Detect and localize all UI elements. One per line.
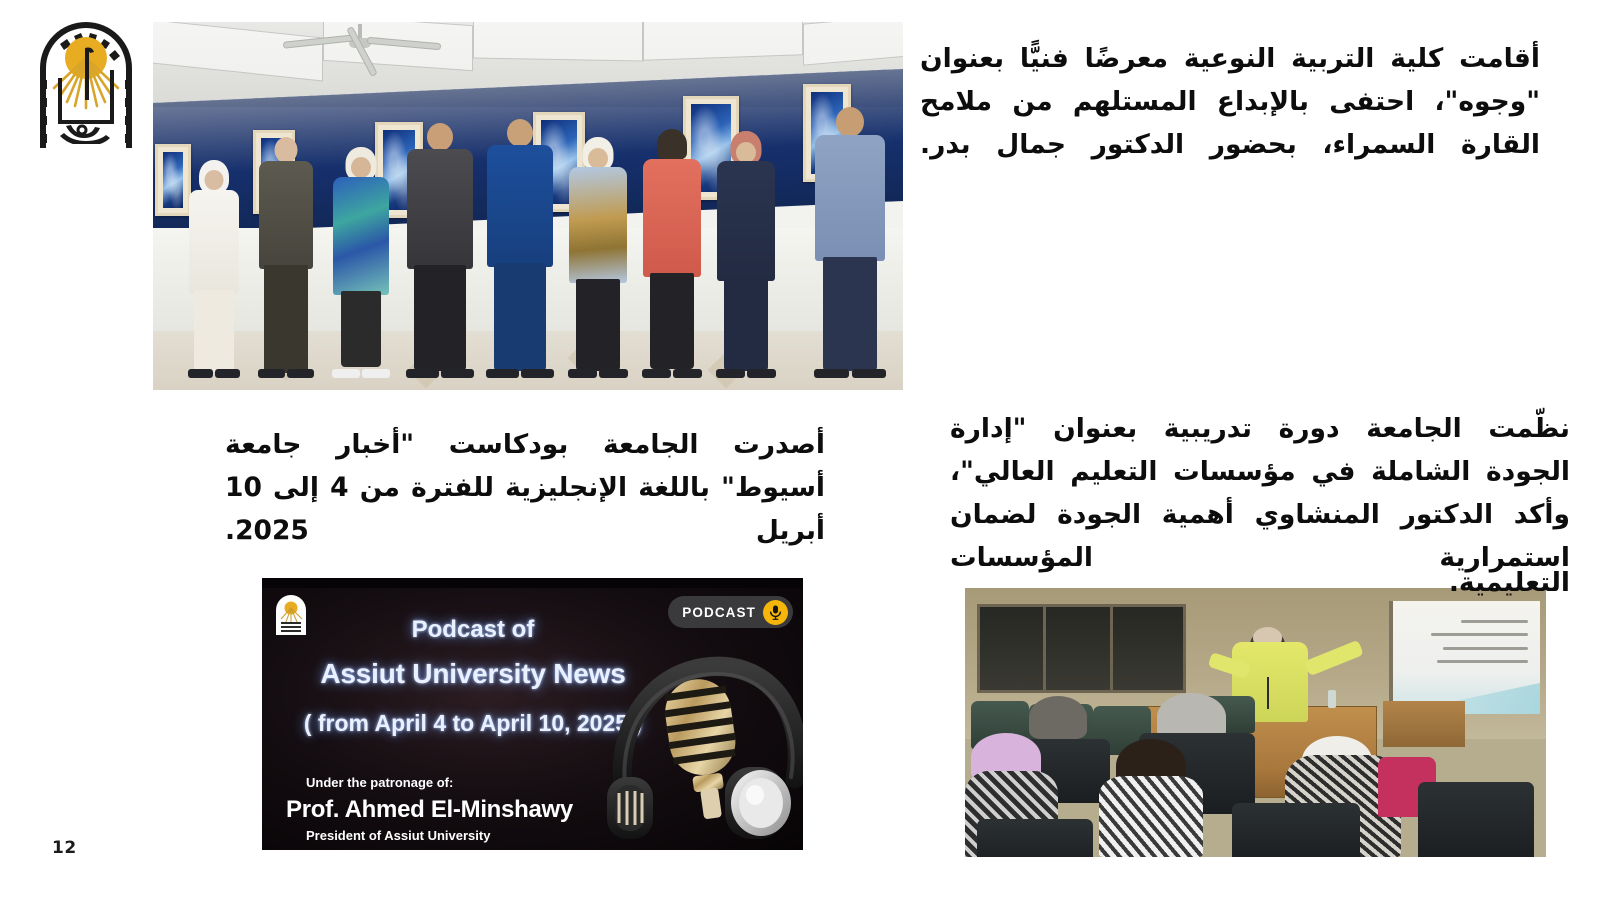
person <box>331 147 391 375</box>
training-lecture-photo <box>965 588 1546 857</box>
chair <box>977 819 1093 857</box>
article-art-exhibition-text: أقامت كلية التربية النوعية معرضًا فنيًّا… <box>920 38 1540 167</box>
person <box>257 137 315 375</box>
article-podcast-text: أصدرت الجامعة بودكاست "أخبار جامعة أسيوط… <box>225 424 825 553</box>
person <box>405 123 475 375</box>
audience-member <box>1029 696 1087 739</box>
poster-patron-name: Prof. Ahmed El-Minshawy <box>286 796 573 824</box>
podcast-poster-image: PODCAST Podcast of Assiut University New… <box>262 578 803 850</box>
chalkboard <box>977 604 1186 693</box>
person <box>567 137 629 375</box>
audience-member <box>1099 776 1204 857</box>
podcast-badge: PODCAST <box>668 596 793 628</box>
newsletter-page: 12 <box>0 0 1600 900</box>
person <box>641 133 703 375</box>
chair <box>1418 782 1534 857</box>
microphone-icon <box>763 600 788 625</box>
microphone-stand <box>1267 677 1269 709</box>
water-bottle <box>1328 690 1336 708</box>
assiut-university-logo <box>30 18 142 150</box>
person <box>485 119 555 375</box>
podcast-badge-label: PODCAST <box>682 605 756 620</box>
page-number: 12 <box>52 838 77 858</box>
lecture-hall-scene <box>965 588 1546 857</box>
article-quality-course-clipped-line: التعليمية. <box>950 562 1570 605</box>
projection-screen <box>1389 601 1540 714</box>
person <box>187 160 241 375</box>
exhibition-group-photo <box>153 22 903 390</box>
microphone-headphones-artwork <box>599 639 803 850</box>
person <box>715 131 777 375</box>
exhibition-hall-scene <box>153 22 903 390</box>
poster-top-bar <box>262 578 803 588</box>
side-desk <box>1383 701 1464 747</box>
poster-patron-role: President of Assiut University <box>306 828 490 843</box>
artwork-frame <box>155 144 191 216</box>
article-quality-course-text: نظّمت الجامعة دورة تدريبية بعنوان "إدارة… <box>950 408 1570 580</box>
person <box>813 107 887 375</box>
chair <box>1232 803 1360 857</box>
poster-patronage-label: Under the patronage of: <box>306 775 453 790</box>
